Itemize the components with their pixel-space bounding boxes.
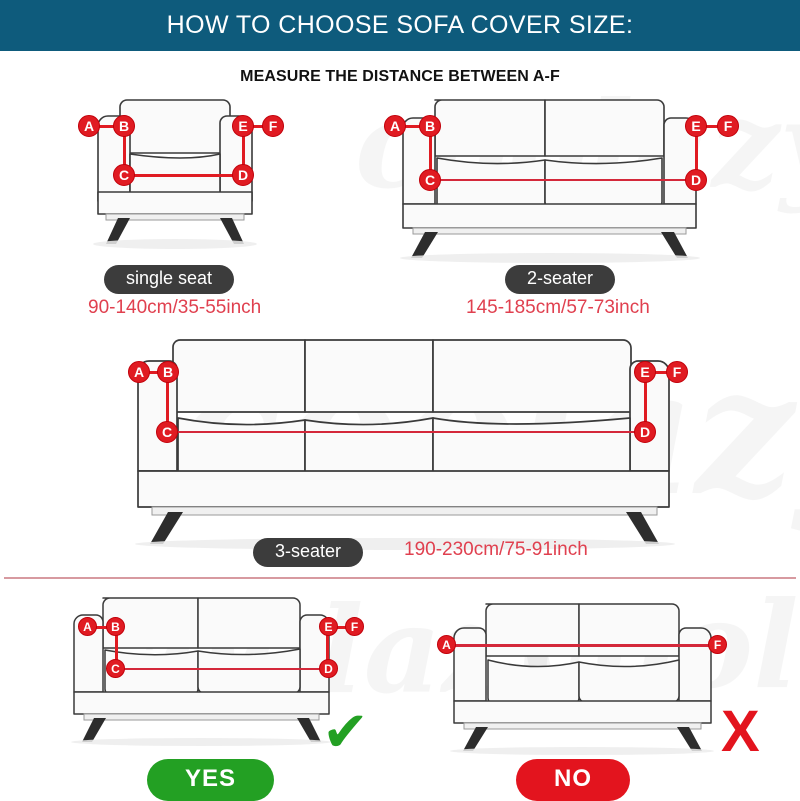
marker-f: F <box>717 115 739 137</box>
x-mark-icon: X <box>721 703 760 761</box>
marker-a: A <box>437 635 456 654</box>
header-banner: HOW TO CHOOSE SOFA COVER SIZE: <box>0 0 800 51</box>
label-single-seat: single seat <box>104 265 234 294</box>
marker-a: A <box>128 361 150 383</box>
section-divider <box>4 577 796 579</box>
marker-d: D <box>685 169 707 191</box>
marker-d: D <box>634 421 656 443</box>
marker-e: E <box>685 115 707 137</box>
figure-correct-example <box>58 592 348 732</box>
marker-f: F <box>345 617 364 636</box>
marker-a: A <box>384 115 406 137</box>
marker-d: D <box>232 164 254 186</box>
marker-f: F <box>666 361 688 383</box>
marker-b: B <box>157 361 179 383</box>
measure-line-cd <box>124 174 246 177</box>
infographic-page: coolazy coolazy coolazy coolazy HOW TO C… <box>0 0 800 800</box>
marker-e: E <box>232 115 254 137</box>
dimension-three-seater: 190-230cm/75-91inch <box>404 539 588 561</box>
marker-b: B <box>113 115 135 137</box>
measure-line-cd <box>167 431 647 433</box>
marker-c: C <box>419 169 441 191</box>
figure-incorrect-example <box>438 598 728 738</box>
marker-b: B <box>419 115 441 137</box>
marker-c: C <box>156 421 178 443</box>
marker-c: C <box>106 659 125 678</box>
status-badge-no: NO <box>516 759 630 801</box>
label-two-seater: 2-seater <box>505 265 615 294</box>
marker-a: A <box>78 115 100 137</box>
marker-b: B <box>106 617 125 636</box>
marker-a: A <box>78 617 97 636</box>
label-three-seater: 3-seater <box>253 538 363 567</box>
marker-c: C <box>113 164 135 186</box>
measure-line-af <box>448 644 716 647</box>
marker-e: E <box>319 617 338 636</box>
measure-line-cd <box>116 668 329 670</box>
check-mark-icon: ✔ <box>322 704 369 760</box>
status-badge-yes: YES <box>147 759 274 801</box>
marker-e: E <box>634 361 656 383</box>
dimension-two-seater: 145-185cm/57-73inch <box>466 297 650 319</box>
marker-f: F <box>708 635 727 654</box>
subtitle: MEASURE THE DISTANCE BETWEEN A-F <box>0 68 800 86</box>
page-title: HOW TO CHOOSE SOFA COVER SIZE: <box>167 11 634 40</box>
marker-d: D <box>319 659 338 678</box>
dimension-single-seat: 90-140cm/35-55inch <box>88 297 261 319</box>
marker-f: F <box>262 115 284 137</box>
measure-line-cd <box>430 179 698 181</box>
